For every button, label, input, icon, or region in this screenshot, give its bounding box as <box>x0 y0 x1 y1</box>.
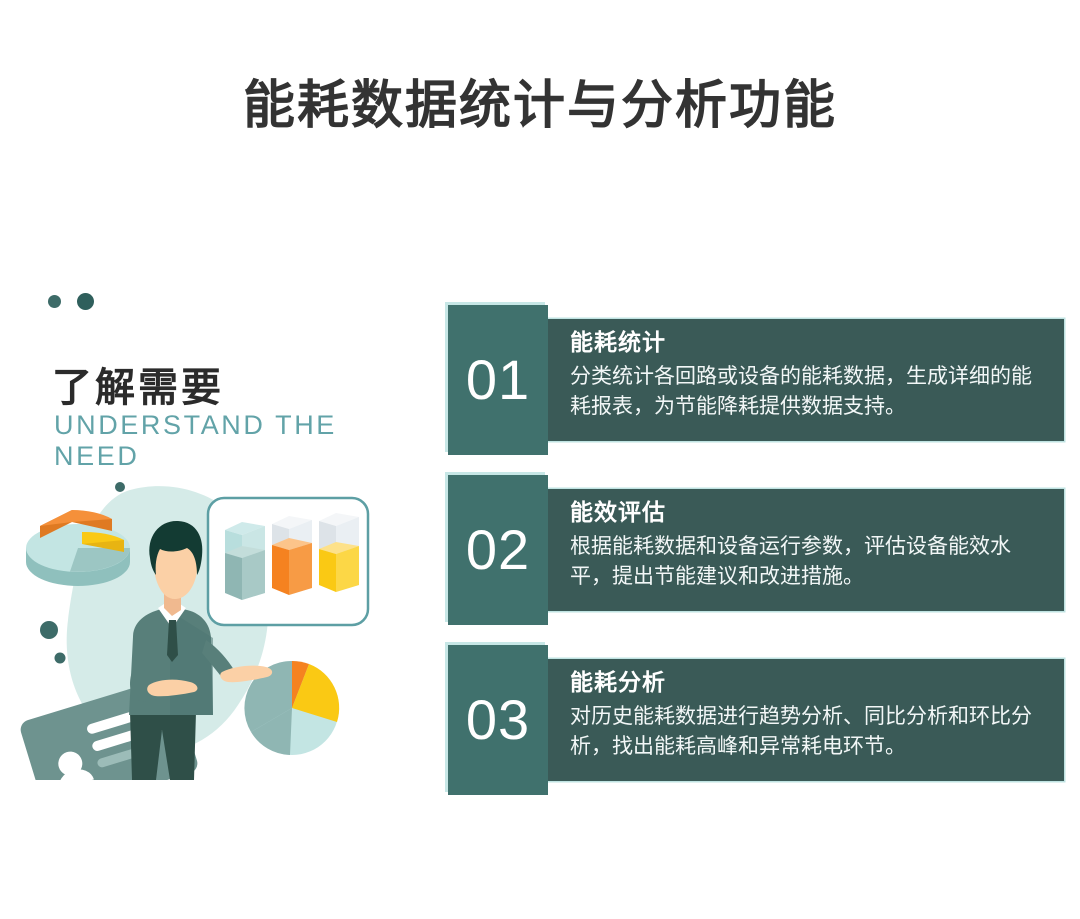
deco-dot-3 <box>55 653 66 664</box>
section-heading-en: UNDERSTAND THE NEED <box>54 410 430 472</box>
dot-small-icon <box>48 295 61 308</box>
feature-card-02[interactable]: 02 能效评估 根据能耗数据和设备运行参数，评估设备能效水平，提出节能建议和改进… <box>434 475 1064 625</box>
card-text: 能耗分析 对历史能耗数据进行趋势分析、同比分析和环比分析，找出能耗高峰和异常耗电… <box>570 669 1046 761</box>
data-analyst-charts-illustration <box>10 480 410 780</box>
deco-dot-2 <box>40 621 58 639</box>
card-number: 01 <box>466 352 530 408</box>
decorative-dots <box>48 293 94 310</box>
feature-card-03[interactable]: 03 能耗分析 对历史能耗数据进行趋势分析、同比分析和环比分析，找出能耗高峰和异… <box>434 645 1064 795</box>
card-number-block: 03 <box>448 645 548 795</box>
feature-card-01[interactable]: 01 能耗统计 分类统计各回路或设备的能耗数据，生成详细的能耗报表，为节能降耗提… <box>434 305 1064 455</box>
card-number: 03 <box>466 692 530 748</box>
bar-2 <box>272 516 312 595</box>
card-text: 能效评估 根据能耗数据和设备运行参数，评估设备能效水平，提出节能建议和改进措施。 <box>570 499 1046 591</box>
card-title: 能效评估 <box>570 499 1046 528</box>
card-number-block: 02 <box>448 475 548 625</box>
card-description: 对历史能耗数据进行趋势分析、同比分析和环比分析，找出能耗高峰和异常耗电环节。 <box>570 702 1046 762</box>
page-title: 能耗数据统计与分析功能 <box>0 78 1080 135</box>
card-title: 能耗统计 <box>570 329 1046 358</box>
bar-1 <box>225 522 265 600</box>
feature-cards-list: 01 能耗统计 分类统计各回路或设备的能耗数据，生成详细的能耗报表，为节能降耗提… <box>434 305 1064 815</box>
card-number-block: 01 <box>448 305 548 455</box>
section-heading-cn: 了解需要 <box>52 355 224 413</box>
card-description: 根据能耗数据和设备运行参数，评估设备能效水平，提出节能建议和改进措施。 <box>570 532 1046 592</box>
bar-3 <box>319 513 359 592</box>
bar-chart-panel-icon <box>208 498 368 625</box>
card-number: 02 <box>466 522 530 578</box>
left-panel: 了解需要 UNDERSTAND THE NEED <box>0 275 430 835</box>
card-description: 分类统计各回路或设备的能耗数据，生成详细的能耗报表，为节能降耗提供数据支持。 <box>570 362 1046 422</box>
card-text: 能耗统计 分类统计各回路或设备的能耗数据，生成详细的能耗报表，为节能降耗提供数据… <box>570 329 1046 421</box>
slide-root: 能耗数据统计与分析功能 了解需要 UNDERSTAND THE NEED <box>0 0 1080 919</box>
card-title: 能耗分析 <box>570 669 1046 698</box>
dot-large-icon <box>77 293 94 310</box>
deco-dot-1 <box>115 482 125 492</box>
